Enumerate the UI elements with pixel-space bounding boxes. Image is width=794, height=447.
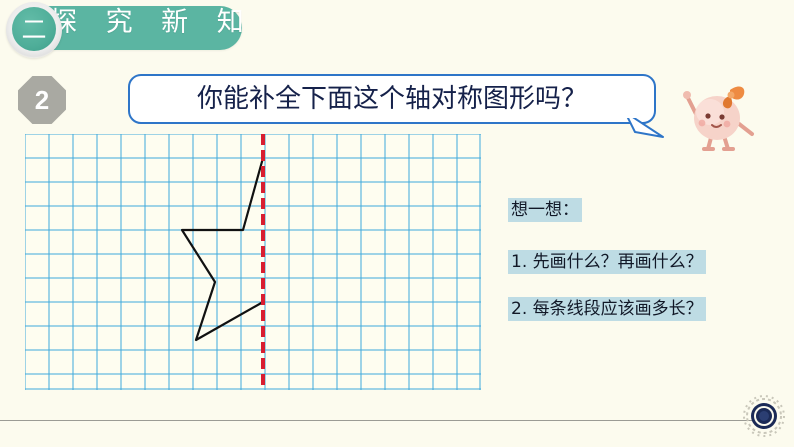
slide-root: 探 究 新 知 二 2 你能补全下面这个轴对称图形吗？ xyxy=(0,0,794,447)
peach-mascot-icon xyxy=(672,76,776,152)
section-title: 探 究 新 知 xyxy=(50,8,254,38)
think-heading: 想一想： xyxy=(508,198,582,222)
bubble-tail-icon xyxy=(623,110,665,140)
question-number-label: 2 xyxy=(35,87,49,113)
section-badge-label: 二 xyxy=(21,17,46,42)
section-badge: 二 xyxy=(12,7,56,51)
gear-icon[interactable] xyxy=(742,394,786,438)
coordinate-grid-panel xyxy=(25,134,481,390)
grid-canvas xyxy=(25,134,481,390)
think-panel: 想一想： 1. 先画什么？再画什么？ 2. 每条线段应该画多长？ xyxy=(508,198,784,321)
question-prompt: 你能补全下面这个轴对称图形吗？ xyxy=(128,74,656,124)
question-bubble: 你能补全下面这个轴对称图形吗？ xyxy=(128,74,656,124)
think-question-2: 2. 每条线段应该画多长？ xyxy=(508,297,706,321)
question-number-badge: 2 xyxy=(18,76,66,124)
footer-divider xyxy=(0,420,766,421)
think-question-1: 1. 先画什么？再画什么？ xyxy=(508,250,706,274)
